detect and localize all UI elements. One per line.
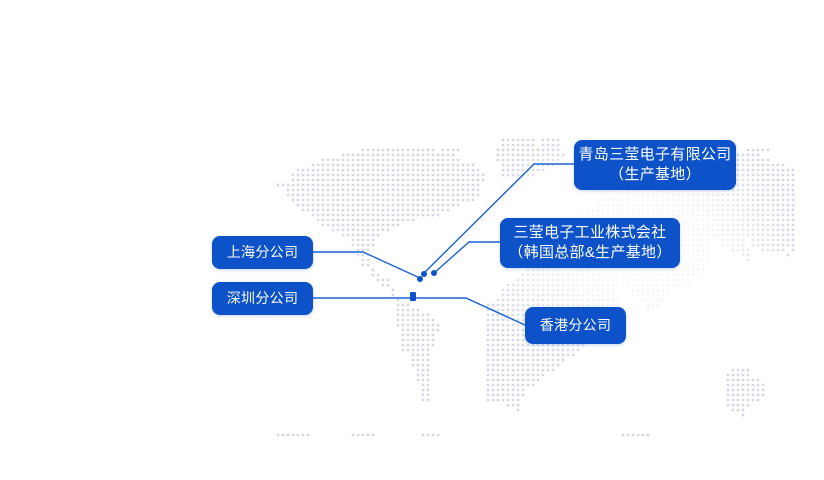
map-marker-qingdao <box>421 271 427 277</box>
world-map-canvas <box>0 0 824 480</box>
connector-line-hongkong <box>416 298 525 325</box>
connector-line-shanghai <box>313 252 420 278</box>
label-hongkong-line1: 香港分公司 <box>540 316 612 334</box>
world-map-infographic: 青岛三莹电子有限公司 （生产基地） 三莹电子工业株式会社 （韩国总部&生产基地）… <box>0 0 824 480</box>
label-shanghai-line1: 上海分公司 <box>227 243 299 261</box>
label-qingdao-line1: 青岛三莹电子有限公司 <box>578 145 731 165</box>
world-map <box>0 0 824 480</box>
label-korea-line1: 三莹电子工业株式会社 <box>513 223 666 243</box>
label-korea-line2: （韩国总部&生产基地） <box>508 243 671 263</box>
map-marker-korea <box>431 270 437 276</box>
connector-line-korea <box>434 242 500 273</box>
label-qingdao-line2: （生产基地） <box>609 165 701 185</box>
label-box-qingdao[interactable]: 青岛三莹电子有限公司 （生产基地） <box>574 140 736 190</box>
map-marker-shanghai <box>417 276 423 282</box>
label-box-shanghai[interactable]: 上海分公司 <box>212 236 313 269</box>
map-marker-shenzhen <box>410 292 416 301</box>
label-box-korea[interactable]: 三莹电子工业株式会社 （韩国总部&生产基地） <box>500 218 680 268</box>
connector-lines <box>0 0 824 480</box>
label-box-hongkong[interactable]: 香港分公司 <box>525 307 626 344</box>
label-shenzhen-line1: 深圳分公司 <box>227 289 299 307</box>
label-box-shenzhen[interactable]: 深圳分公司 <box>212 282 313 315</box>
